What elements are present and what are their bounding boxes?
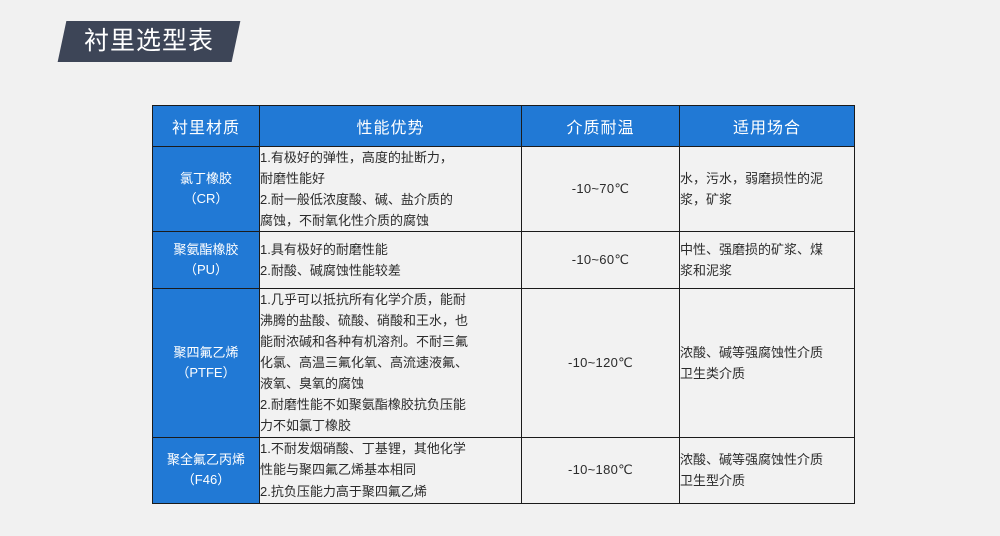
material-name: 聚氨酯橡胶 [153, 240, 259, 260]
table-row: 聚全氟乙丙烯 （F46） 1.不耐发烟硝酸、丁基锂，其他化学 性能与聚四氟乙烯基… [153, 437, 855, 503]
advantage-line: 1.几乎可以抵抗所有化学介质，能耐 [260, 289, 521, 310]
column-header-advantages: 性能优势 [260, 106, 522, 147]
material-name: 聚四氟乙烯 [153, 343, 259, 363]
application-line: 中性、强磨损的矿浆、煤 [680, 239, 854, 260]
advantage-line: 化氯、高温三氟化氧、高流速液氟、 [260, 352, 521, 373]
advantage-line: 2.耐酸、碱腐蚀性能较差 [260, 260, 521, 281]
cell-advantages: 1.有极好的弹性，高度的扯断力， 耐磨性能好 2.耐一般低浓度酸、碱、盐介质的 … [260, 147, 522, 232]
cell-applications: 水，污水，弱磨损性的泥 浆，矿浆 [680, 147, 855, 232]
application-line: 浆，矿浆 [680, 189, 854, 210]
table-row: 氯丁橡胶 （CR） 1.有极好的弹性，高度的扯断力， 耐磨性能好 2.耐一般低浓… [153, 147, 855, 232]
column-header-applications: 适用场合 [680, 106, 855, 147]
cell-advantages: 1.几乎可以抵抗所有化学介质，能耐 沸腾的盐酸、硫酸、硝酸和王水，也 能耐浓碱和… [260, 289, 522, 437]
cell-temperature: -10~120℃ [522, 289, 680, 437]
lining-selection-table: 衬里材质 性能优势 介质耐温 适用场合 氯丁橡胶 （CR） 1.有极好的弹性，高… [152, 105, 855, 504]
advantage-line: 1.具有极好的耐磨性能 [260, 239, 521, 260]
advantage-line: 1.有极好的弹性，高度的扯断力， [260, 147, 521, 168]
advantage-line: 沸腾的盐酸、硫酸、硝酸和王水，也 [260, 310, 521, 331]
material-abbreviation: （F46） [153, 470, 259, 490]
material-name: 聚全氟乙丙烯 [153, 450, 259, 470]
cell-applications: 浓酸、碱等强腐蚀性介质 卫生型介质 [680, 437, 855, 503]
material-abbreviation: （PTFE） [153, 363, 259, 383]
cell-applications: 浓酸、碱等强腐蚀性介质 卫生类介质 [680, 289, 855, 437]
column-header-material: 衬里材质 [153, 106, 260, 147]
material-abbreviation: （CR） [153, 189, 259, 209]
advantage-line: 力不如氯丁橡胶 [260, 415, 521, 436]
cell-temperature: -10~180℃ [522, 437, 680, 503]
cell-advantages: 1.具有极好的耐磨性能 2.耐酸、碱腐蚀性能较差 [260, 232, 522, 289]
application-line: 卫生类介质 [680, 363, 854, 384]
material-name: 氯丁橡胶 [153, 169, 259, 189]
advantage-line: 2.耐磨性能不如聚氨酯橡胶抗负压能 [260, 394, 521, 415]
cell-material: 聚全氟乙丙烯 （F46） [153, 437, 260, 503]
application-line: 水，污水，弱磨损性的泥 [680, 168, 854, 189]
page-title: 衬里选型表 [84, 29, 214, 54]
advantage-line: 能耐浓碱和各种有机溶剂。不耐三氟 [260, 331, 521, 352]
advantage-line: 2.耐一般低浓度酸、碱、盐介质的 [260, 189, 521, 210]
advantage-line: 1.不耐发烟硝酸、丁基锂，其他化学 [260, 438, 521, 459]
cell-material: 氯丁橡胶 （CR） [153, 147, 260, 232]
column-header-temperature: 介质耐温 [522, 106, 680, 147]
cell-temperature: -10~60℃ [522, 232, 680, 289]
application-line: 浆和泥浆 [680, 260, 854, 281]
cell-temperature: -10~70℃ [522, 147, 680, 232]
advantage-line: 耐磨性能好 [260, 168, 521, 189]
table-row: 聚四氟乙烯 （PTFE） 1.几乎可以抵抗所有化学介质，能耐 沸腾的盐酸、硫酸、… [153, 289, 855, 437]
cell-material: 聚四氟乙烯 （PTFE） [153, 289, 260, 437]
material-abbreviation: （PU） [153, 260, 259, 280]
cell-advantages: 1.不耐发烟硝酸、丁基锂，其他化学 性能与聚四氟乙烯基本相同 2.抗负压能力高于… [260, 437, 522, 503]
advantage-line: 2.抗负压能力高于聚四氟乙烯 [260, 481, 521, 502]
table-header-row: 衬里材质 性能优势 介质耐温 适用场合 [153, 106, 855, 147]
page-title-banner: 衬里选型表 [58, 21, 241, 62]
advantage-line: 腐蚀，不耐氧化性介质的腐蚀 [260, 210, 521, 231]
advantage-line: 性能与聚四氟乙烯基本相同 [260, 459, 521, 480]
application-line: 浓酸、碱等强腐蚀性介质 [680, 449, 854, 470]
cell-applications: 中性、强磨损的矿浆、煤 浆和泥浆 [680, 232, 855, 289]
table-row: 聚氨酯橡胶 （PU） 1.具有极好的耐磨性能 2.耐酸、碱腐蚀性能较差 -10~… [153, 232, 855, 289]
application-line: 卫生型介质 [680, 470, 854, 491]
cell-material: 聚氨酯橡胶 （PU） [153, 232, 260, 289]
advantage-line: 液氧、臭氧的腐蚀 [260, 373, 521, 394]
application-line: 浓酸、碱等强腐蚀性介质 [680, 342, 854, 363]
